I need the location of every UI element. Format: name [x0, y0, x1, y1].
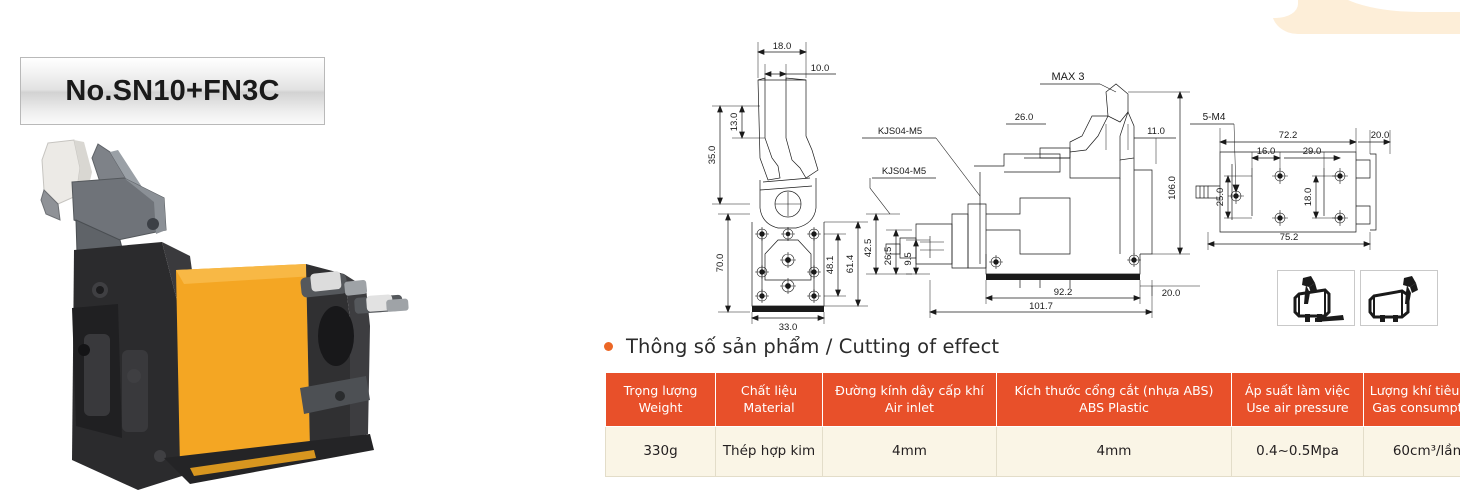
dim-top-722: 72.2 [1279, 130, 1298, 141]
header-en-air-inlet: Air inlet [885, 400, 934, 415]
header-vi-air-inlet: Đường kính dây cấp khí [835, 383, 984, 398]
mounting-illustration-2-icon [1364, 274, 1434, 322]
model-number-label: No.SN10+FN3C [65, 75, 279, 108]
dim-front-35: 35.0 [707, 146, 718, 165]
thumbnail-gallery [1277, 270, 1438, 326]
product-photo-illustration [14, 138, 438, 496]
dim-top-25: 25.0 [1215, 188, 1226, 207]
dim-front-481: 48.1 [825, 256, 836, 275]
dim-front-18: 18.0 [773, 41, 792, 52]
table-header-row: Trọng lượng Weight Chất liệu Material Đư… [606, 373, 1460, 427]
dim-side-11: 11.0 [1147, 126, 1165, 137]
dim-side-port-1: KJS04-M5 [878, 126, 922, 137]
section-heading: Thông số sản phẩm / Cutting of effect [604, 335, 999, 358]
header-vi-material: Chất liệu [741, 383, 797, 398]
dim-side-425: 42.5 [863, 239, 874, 258]
dim-top-20: 20.0 [1371, 130, 1390, 141]
model-number-badge: No.SN10+FN3C [20, 57, 325, 125]
cell-material: Thép hợp kim [716, 427, 823, 477]
bullet-dot-icon [604, 342, 613, 351]
header-en-material: Material [743, 400, 794, 415]
header-en-weight: Weight [639, 400, 683, 415]
table-header-weight: Trọng lượng Weight [606, 373, 716, 427]
header-en-gas-consumption: Gas consumption [1372, 400, 1460, 415]
dim-top-29: 29.0 [1303, 146, 1322, 157]
dim-top-16: 16.0 [1257, 146, 1276, 157]
dim-front-614: 61.4 [845, 255, 856, 274]
dim-front-13: 13.0 [729, 113, 740, 132]
table-header-air-inlet: Đường kính dây cấp khí Air inlet [823, 373, 997, 427]
dim-side-922: 92.2 [1054, 287, 1073, 298]
dim-side-265: 26.5 [883, 247, 894, 266]
header-vi-abs-plastic: Kích thước cổng cắt (nhựa ABS) [1015, 383, 1214, 398]
thumbnail-mounting-2[interactable] [1360, 270, 1438, 326]
product-photo [14, 138, 438, 496]
dim-front-33: 33.0 [779, 322, 798, 330]
table-row: 330g Thép hợp kim 4mm 4mm 0.4~0.5Mpa 60c… [606, 427, 1460, 477]
cell-gas-consumption: 60cm³/lần [1364, 427, 1460, 477]
header-vi-gas-consumption: Lượng khí tiêu thụ [1370, 383, 1460, 398]
section-heading-label: Thông số sản phẩm / Cutting of effect [626, 335, 999, 358]
specification-table: Trọng lượng Weight Chất liệu Material Đư… [605, 372, 1460, 477]
dim-side-106: 106.0 [1167, 176, 1178, 200]
dim-side-20: 20.0 [1162, 288, 1181, 299]
dim-top-5m4: 5-M4 [1203, 112, 1226, 123]
cell-air-pressure: 0.4~0.5Mpa [1232, 427, 1364, 477]
mounting-illustration-1-icon [1281, 274, 1351, 322]
dim-front-70: 70.0 [715, 254, 726, 273]
dim-side-26: 26.0 [1015, 112, 1034, 123]
dim-side-max3: MAX 3 [1051, 71, 1084, 83]
header-en-abs-plastic: ABS Plastic [1079, 400, 1149, 415]
dim-side-95: 9.5 [903, 252, 914, 265]
header-en-air-pressure: Use air pressure [1246, 400, 1348, 415]
dim-side-1017: 101.7 [1029, 301, 1053, 312]
dim-top-18: 18.0 [1303, 188, 1314, 207]
table-header-gas-consumption: Lượng khí tiêu thụ Gas consumption [1364, 373, 1460, 427]
header-vi-air-pressure: Áp suất làm việc [1245, 383, 1350, 398]
table-header-material: Chất liệu Material [716, 373, 823, 427]
cell-air-inlet: 4mm [823, 427, 997, 477]
dim-side-port-2: KJS04-M5 [882, 166, 926, 177]
thumbnail-mounting-1[interactable] [1277, 270, 1355, 326]
header-vi-weight: Trọng lượng [624, 383, 698, 398]
table-header-abs-plastic: Kích thước cổng cắt (nhựa ABS) ABS Plast… [997, 373, 1232, 427]
cell-abs-plastic: 4mm [997, 427, 1232, 477]
dim-top-752: 75.2 [1280, 232, 1299, 243]
dim-front-10: 10.0 [811, 63, 830, 74]
cell-weight: 330g [606, 427, 716, 477]
table-header-air-pressure: Áp suất làm việc Use air pressure [1232, 373, 1364, 427]
